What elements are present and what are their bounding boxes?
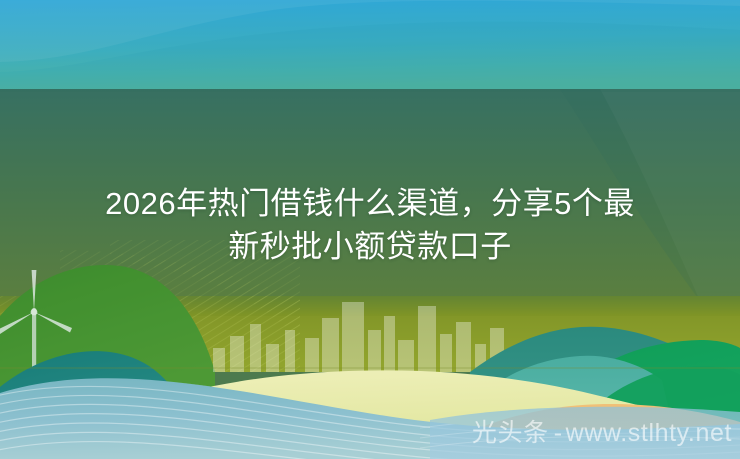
sky-gradient [0,0,740,92]
banner-image: 2026年热门借钱什么渠道，分享5个最 新秒批小额贷款口子 光头条-www.st… [0,0,740,459]
background-artwork [0,0,740,459]
